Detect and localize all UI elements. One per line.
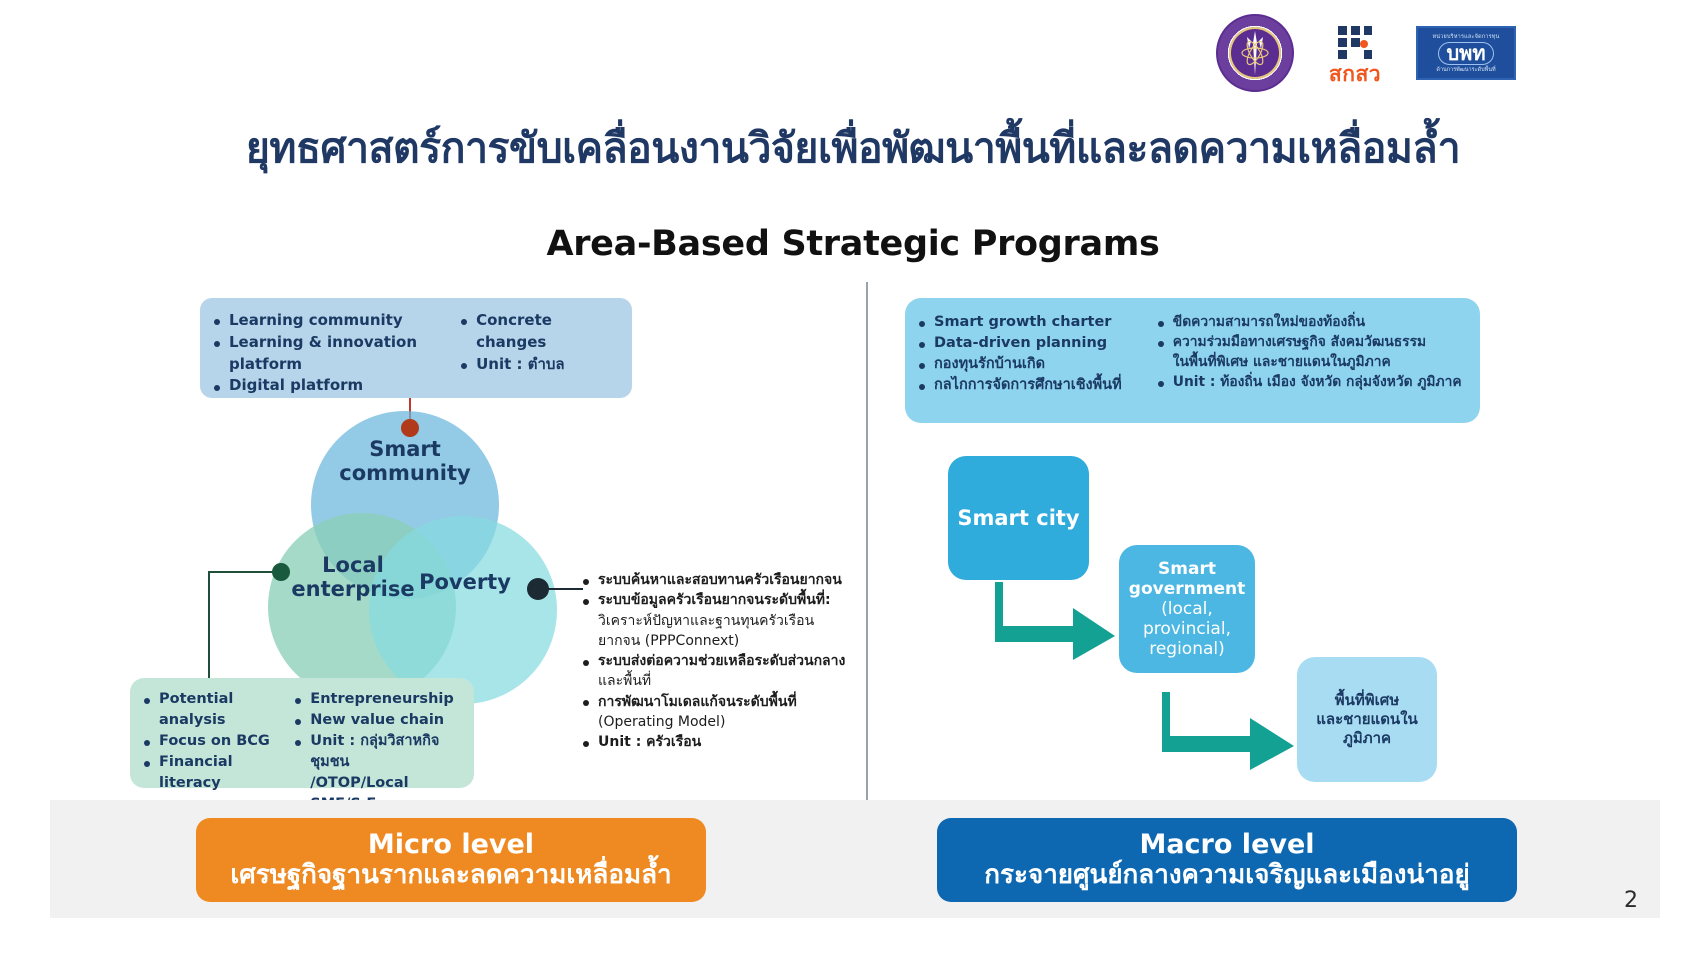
local-enterprise-col2: Entrepreneurship New value chain Unit : … xyxy=(295,689,460,815)
micro-level-subtitle: เศรษฐกิจฐานรากและลดความเหลื่อมล้ำ xyxy=(230,861,671,890)
list-item-text: Unit : ครัวเรือน xyxy=(598,734,701,750)
list-item: (Operating Model) xyxy=(583,712,858,732)
smart-info-col2: ขีดความสามารถใหม่ของท้องถิ่น ความร่วมมือ… xyxy=(1158,312,1466,396)
list-item: Learning community xyxy=(214,310,461,332)
micro-level-banner: Micro level เศรษฐกิจฐานรากและลดความเหลื่… xyxy=(196,818,706,902)
list-item-text: ระบบส่งต่อความช่วยเหลือระดับส่วนกลาง xyxy=(598,653,845,669)
list-item: การพัฒนาโมเดลแก้จนระดับพื้นที่ xyxy=(583,692,858,712)
list-item: Unit : ตำบล xyxy=(461,354,618,376)
list-item: Focus on BCG xyxy=(144,731,295,752)
special-area-line3: ภูมิภาค xyxy=(1316,729,1418,748)
dot-local-enterprise xyxy=(272,563,290,581)
circle-poverty xyxy=(369,516,557,704)
list-item: ระบบค้นหาและสอบทานครัวเรือนยากจน xyxy=(583,570,858,590)
list-item: ขีดความสามารถใหม่ของท้องถิ่น xyxy=(1158,312,1466,332)
slide-title-english: Area-Based Strategic Programs xyxy=(0,224,1706,264)
smart-city-box: Smart city xyxy=(948,456,1089,580)
list-item: Potential analysis xyxy=(144,689,295,731)
smart-government-sub2: provincial, xyxy=(1129,619,1245,639)
smart-community-col1: Learning community Learning & innovation… xyxy=(214,310,461,397)
list-item: Smart growth charter xyxy=(919,312,1158,333)
connector-local-enterprise-h xyxy=(208,571,274,573)
logo-group: สกสว หน่วยบริหารและจัดการทุน บพท ด้านการ… xyxy=(1216,14,1516,92)
list-item: Unit : ครัวเรือน xyxy=(583,732,858,752)
sakso-mark-icon xyxy=(1334,22,1376,62)
smart-community-col2: Concrete changes Unit : ตำบล xyxy=(461,310,618,397)
connector-poverty xyxy=(547,588,583,590)
label-smart-community: Smart community xyxy=(325,438,485,485)
bpk-logo: หน่วยบริหารและจัดการทุน บพท ด้านการพัฒนา… xyxy=(1416,26,1516,80)
bpk-bottom-text: ด้านการพัฒนาระดับพื้นที่ xyxy=(1436,66,1495,74)
slide-root: สกสว หน่วยบริหารและจัดการทุน บพท ด้านการ… xyxy=(0,0,1706,960)
bpk-main-text: บพท xyxy=(1438,42,1493,65)
list-item: Data-driven planning xyxy=(919,333,1158,354)
list-item: ยากจน (PPPConnext) xyxy=(583,631,858,651)
list-item: กลไกการจัดการศึกษาเชิงพื้นที่ xyxy=(919,375,1158,396)
local-enterprise-col1: Potential analysis Focus on BCG Financia… xyxy=(144,689,295,815)
smart-city-label: Smart city xyxy=(957,506,1079,530)
bpk-top-text: หน่วยบริหารและจัดการทุน xyxy=(1432,33,1499,41)
macro-level-banner: Macro level กระจายศูนย์กลางความเจริญและเ… xyxy=(937,818,1517,902)
ministry-seal-icon xyxy=(1216,14,1294,92)
list-item: Digital platform xyxy=(214,375,461,397)
list-item: และพื้นที่ xyxy=(583,671,858,691)
trident-icon xyxy=(1240,29,1270,77)
special-area-line2: และชายแดนใน xyxy=(1316,710,1418,729)
list-item-text: ระบบค้นหาและสอบทานครัวเรือนยากจน xyxy=(598,572,842,588)
dot-smart-community xyxy=(401,419,419,437)
list-item: กองทุนรักบ้านเกิด xyxy=(919,354,1158,375)
smart-government-line1: Smart xyxy=(1129,559,1245,579)
label-smart-community-line1: Smart xyxy=(325,438,485,462)
list-item: ในพื้นที่พิเศษ และชายแดนในภูมิภาค xyxy=(1158,352,1466,372)
connector-local-enterprise-v xyxy=(208,571,210,681)
list-item: Entrepreneurship xyxy=(295,689,460,710)
list-item: ความร่วมมือทางเศรษฐกิจ สังคมวัฒนธรรม xyxy=(1158,332,1466,352)
list-item: Unit : กลุ่มวิสาหกิจชุมชน xyxy=(295,731,460,773)
list-item: Concrete changes xyxy=(461,310,618,354)
poverty-detail-list: ระบบค้นหาและสอบทานครัวเรือนยากจน ระบบข้อ… xyxy=(583,570,858,753)
arrow-city-to-government-icon xyxy=(995,580,1125,660)
label-poverty: Poverty xyxy=(405,571,525,595)
list-item: Unit : ท้องถิ่น เมือง จังหวัด กลุ่มจังหว… xyxy=(1158,372,1466,392)
smart-government-sub1: (local, xyxy=(1129,599,1245,619)
list-item: New value chain xyxy=(295,710,460,731)
smart-info-col1: Smart growth charter Data-driven plannin… xyxy=(919,312,1158,396)
dot-poverty xyxy=(527,578,549,600)
list-item: Financial literacy xyxy=(144,752,295,794)
list-item: วิเคราะห์ปัญหาและฐานทุนครัวเรือน xyxy=(583,611,858,631)
sakso-logo: สกสว xyxy=(1320,22,1390,85)
smart-community-info-box: Learning community Learning & innovation… xyxy=(200,298,632,398)
arrow-government-to-area-icon xyxy=(1162,690,1302,770)
list-item: Learning & innovation platform xyxy=(214,332,461,376)
smart-government-sub3: regional) xyxy=(1129,639,1245,659)
page-number: 2 xyxy=(1624,888,1638,913)
list-item: ระบบข้อมูลครัวเรือนยากจนระดับพื้นที่: xyxy=(583,590,858,610)
smart-city-info-box: Smart growth charter Data-driven plannin… xyxy=(905,298,1480,423)
smart-government-box: Smart government (local, provincial, reg… xyxy=(1119,545,1255,673)
special-area-box: พื้นที่พิเศษ และชายแดนใน ภูมิภาค xyxy=(1297,657,1437,782)
macro-level-subtitle: กระจายศูนย์กลางความเจริญและเมืองน่าอยู่ xyxy=(984,861,1469,890)
micro-level-title: Micro level xyxy=(368,830,534,860)
macro-level-title: Macro level xyxy=(1139,830,1314,860)
sakso-label: สกสว xyxy=(1329,64,1381,85)
list-item-text: การพัฒนาโมเดลแก้จนระดับพื้นที่ xyxy=(598,694,797,710)
list-item: ระบบส่งต่อความช่วยเหลือระดับส่วนกลาง xyxy=(583,651,858,671)
slide-title-thai: ยุทธศาสตร์การขับเคลื่อนงานวิจัยเพื่อพัฒน… xyxy=(0,116,1706,181)
list-item-text: ระบบข้อมูลครัวเรือนยากจนระดับพื้นที่: xyxy=(598,592,831,608)
special-area-line1: พื้นที่พิเศษ xyxy=(1316,691,1418,710)
smart-government-line2: government xyxy=(1129,579,1245,599)
label-smart-community-line2: community xyxy=(325,462,485,486)
vertical-divider xyxy=(866,282,868,889)
local-enterprise-info-box: Potential analysis Focus on BCG Financia… xyxy=(130,678,474,788)
